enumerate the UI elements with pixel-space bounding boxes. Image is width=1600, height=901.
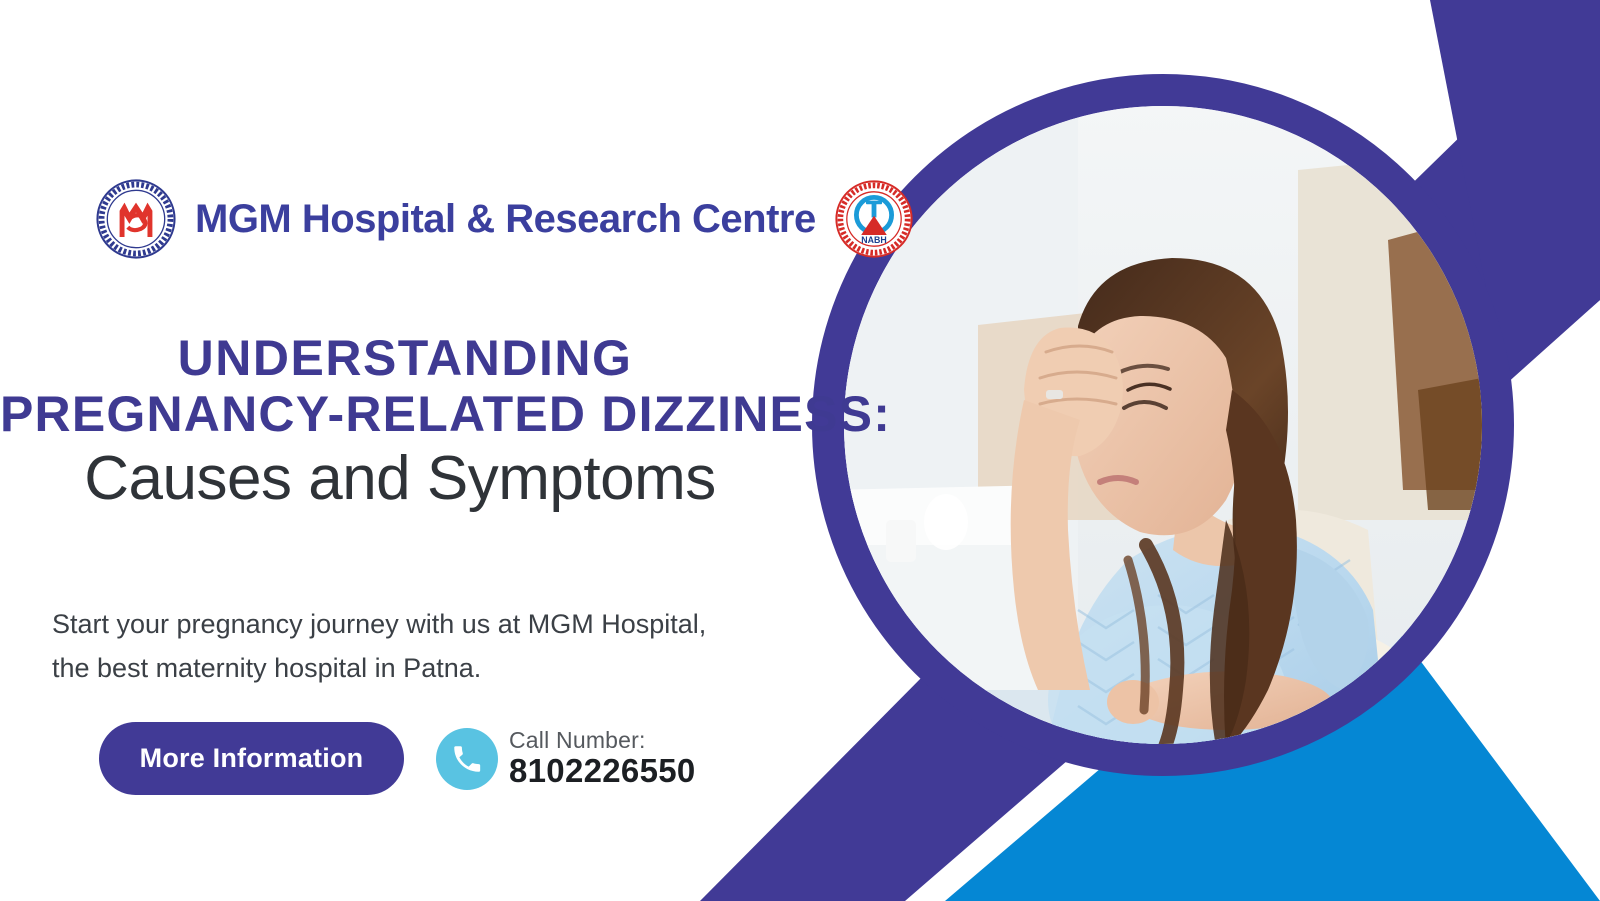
svg-text:NABH: NABH: [861, 235, 886, 245]
hospital-name: MGM Hospital & Research Centre: [195, 197, 816, 242]
call-number-label: Call Number:: [509, 728, 696, 752]
headline-line-1: UNDERSTANDING: [0, 330, 810, 386]
headline-line-2: PREGNANCY-RELATED DIZZINESS:: [0, 386, 810, 442]
more-information-button[interactable]: More Information: [99, 722, 404, 795]
page-title: UNDERSTANDING PREGNANCY-RELATED DIZZINES…: [0, 330, 810, 442]
promotional-banner: MGM Hospital & Research Centre NABH UNDE…: [0, 0, 1600, 901]
nabh-accreditation-icon: NABH: [834, 179, 914, 259]
call-number-value[interactable]: 8102226550: [509, 754, 696, 789]
phone-icon: [436, 728, 498, 790]
brand-logo-row: MGM Hospital & Research Centre NABH: [95, 178, 914, 260]
cta-row: More Information Call Number: 8102226550: [99, 722, 696, 795]
hero-photo: [828, 90, 1498, 760]
body-paragraph: Start your pregnancy journey with us at …: [52, 603, 712, 690]
mgm-logo-icon: [95, 178, 177, 260]
call-block[interactable]: Call Number: 8102226550: [436, 728, 696, 790]
page-subtitle: Causes and Symptoms: [0, 443, 800, 514]
